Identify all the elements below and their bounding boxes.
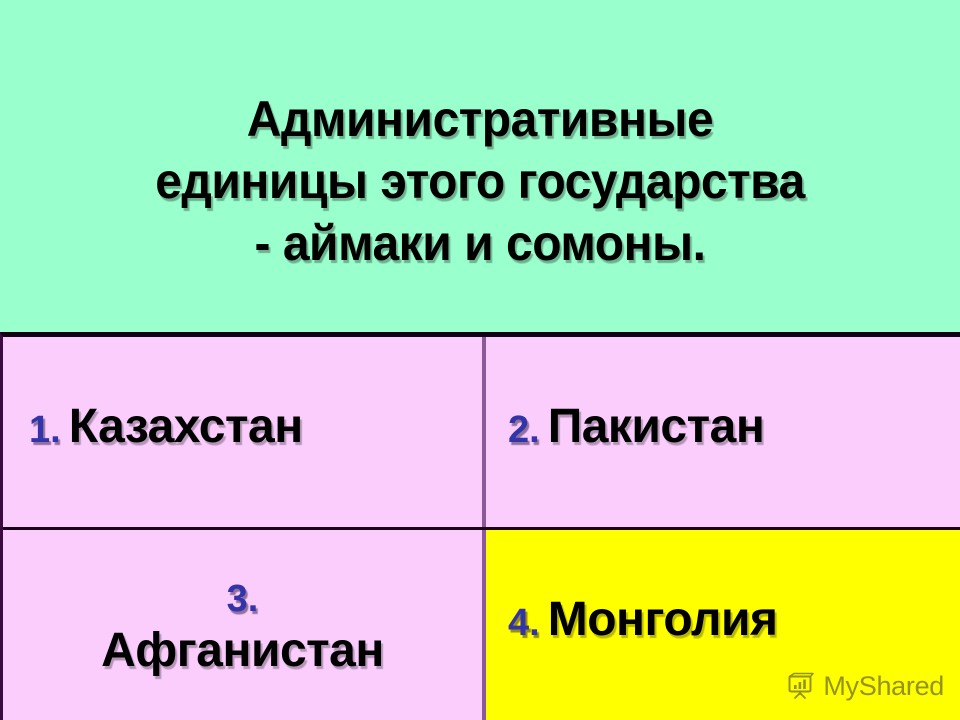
question-line-3: - аймаки и сомоны. (29, 212, 931, 274)
answer-option-1[interactable]: 1.Казахстан (3, 337, 482, 527)
myshared-watermark: MyShared (786, 672, 944, 700)
answer-option-2-label: Пакистан (548, 400, 765, 453)
answer-option-3-label: Афганистан (13, 623, 472, 679)
answer-option-3[interactable]: 3. Афганистан (3, 530, 482, 720)
answer-option-2-number: 2. (508, 409, 540, 451)
question-header: Административные единицы этого государст… (0, 0, 960, 332)
answer-option-3-content: 3. Афганистан (3, 571, 482, 679)
quiz-slide: Административные единицы этого государст… (0, 0, 960, 720)
answer-row-1: 1.Казахстан 2.Пакистан (3, 337, 960, 527)
myshared-watermark-text: MyShared (823, 672, 944, 700)
answer-option-3-number: 3. (13, 571, 472, 627)
answer-option-2[interactable]: 2.Пакистан (482, 337, 960, 527)
answer-option-1-content: 1.Казахстан (3, 397, 482, 468)
answer-option-1-label: Казахстан (69, 400, 303, 453)
question-line-2: единицы этого государства (29, 150, 931, 212)
answer-option-4[interactable]: 4.Монголия (482, 530, 960, 720)
answer-row-2: 3. Афганистан 4.Монголия (3, 527, 960, 720)
answer-options-table: 1.Казахстан 2.Пакистан 3. Афганистан 4.М… (0, 332, 960, 720)
presentation-board-icon (786, 672, 816, 700)
answer-option-1-number: 1. (29, 409, 61, 451)
question-line-1: Административные (29, 88, 931, 150)
answer-option-2-content: 2.Пакистан (486, 397, 960, 468)
answer-option-4-label: Монголия (548, 593, 778, 646)
answer-option-4-content: 4.Монголия (486, 590, 960, 661)
answer-option-4-number: 4. (508, 602, 540, 644)
